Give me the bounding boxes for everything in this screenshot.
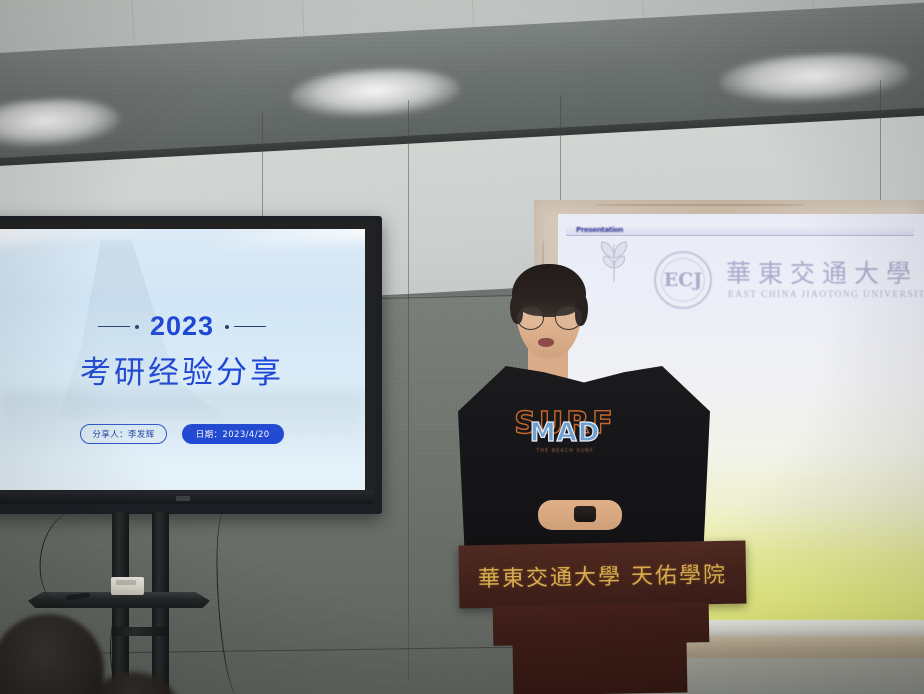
watermark-english-name: EAST CHINA JIAOTONG UNIVERSITY (728, 290, 924, 300)
podium-base (513, 640, 688, 694)
screen-app-titlebar: Presentation (566, 225, 914, 236)
speaker-mouth (538, 338, 554, 347)
slide-year-row: 2023 (0, 313, 365, 340)
speaker-figure: SURF MAD THE BEACH SURF (452, 252, 722, 572)
tv-power-led-icon (176, 496, 190, 501)
tshirt-graphic: SURF MAD THE BEACH SURF (510, 404, 620, 464)
wall-seam-vertical-3 (560, 96, 561, 206)
tv-bottom-bezel (0, 491, 375, 504)
tv-screen-slide[interactable]: 2023 考研经验分享 分享人：李发辉 日期：2023/4/20 (0, 229, 365, 490)
speaker-eyebrow-right (560, 302, 577, 305)
wall-mounted-tv[interactable]: 2023 考研经验分享 分享人：李发辉 日期：2023/4/20 (0, 216, 382, 514)
watermark-chinese-name: 華東交通大學 (726, 254, 918, 290)
podium-middle-section (493, 602, 710, 646)
eyeglass-bridge (542, 315, 555, 317)
wall-seam-vertical-4 (880, 80, 881, 200)
screen-app-title: Presentation (576, 226, 623, 234)
lecture-hall-photo: Presentation ECJ 華東交通大學 EAST CHINA JIAOT… (0, 0, 924, 694)
marble-vein-3 (594, 204, 804, 206)
podium-inscription: 華東交通大學 天佑學院 (459, 556, 747, 593)
podium-top-panel: 華東交通大學 天佑學院 (458, 541, 746, 609)
slide-decor-line-right (225, 325, 266, 329)
eyeglasses-icon (514, 306, 586, 328)
eyeglass-lens-right (555, 306, 582, 330)
set-top-box (111, 577, 144, 595)
wall-seam-vertical-2 (408, 100, 409, 680)
tshirt-graphic-front-text: MAD (510, 418, 620, 448)
tv-bezel: 2023 考研经验分享 分享人：李发辉 日期：2023/4/20 (0, 221, 375, 504)
presenter-clicker[interactable] (574, 506, 596, 522)
eyeglass-lens-left (517, 306, 544, 330)
speaker-eyebrow-left (520, 302, 537, 305)
tv-glass-reflection-lower (0, 391, 365, 459)
tshirt-graphic-sub-text: THE BEACH SURF (510, 448, 620, 454)
